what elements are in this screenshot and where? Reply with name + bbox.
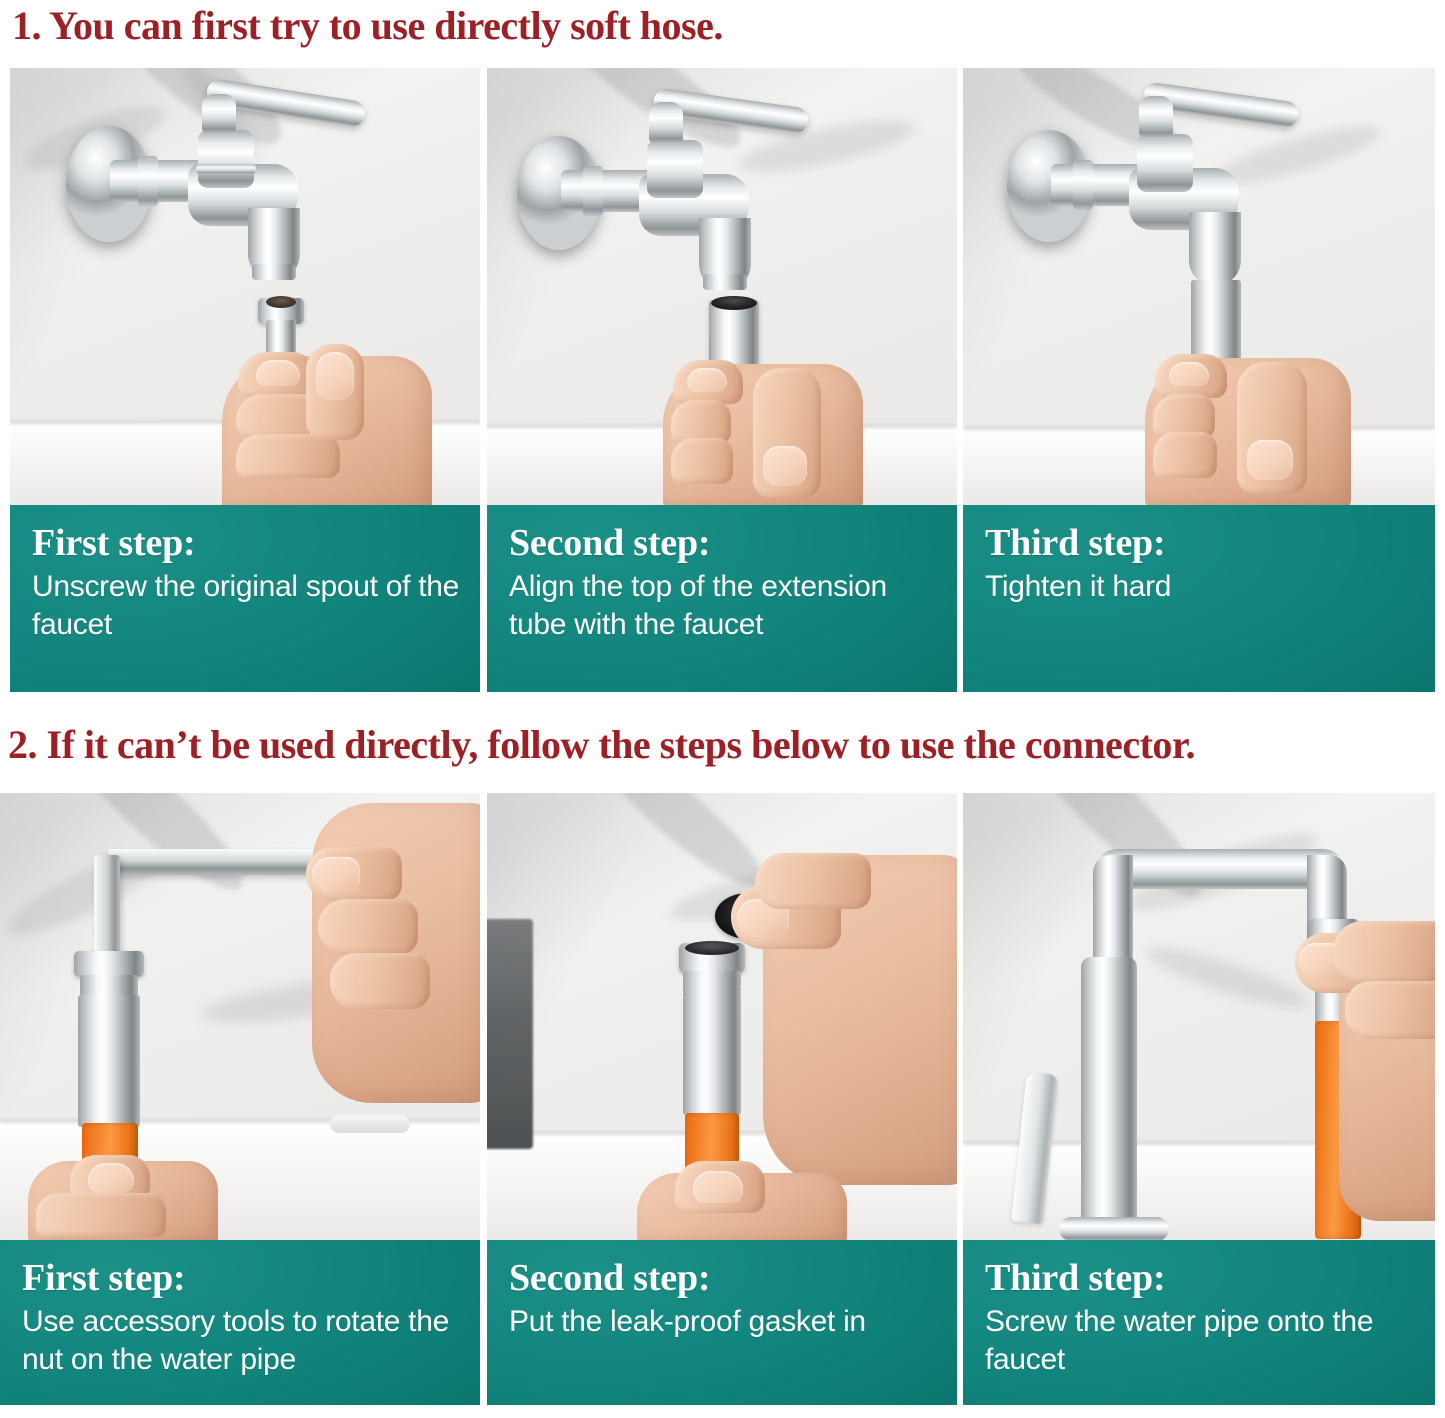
step-title: Second step: [509, 521, 937, 565]
kitchen-faucet-left-bend [1093, 855, 1133, 967]
faucet-cartridge [647, 140, 703, 198]
ring-finger [1153, 432, 1217, 478]
step-card-1-1: First step: Unscrew the original spout o… [10, 68, 480, 692]
step-photo-hex-wrench [0, 793, 480, 1240]
fingernail [312, 857, 360, 891]
middle-finger [36, 1193, 166, 1237]
connector-threads [683, 971, 741, 993]
step-title: Third step: [985, 521, 1415, 565]
step-photo-unscrew-spout [10, 68, 480, 505]
kitchen-faucet-column [1081, 957, 1137, 1239]
connector-threads [80, 975, 138, 997]
thumbnail [763, 446, 807, 486]
step-body: Align the top of the extension tube with… [509, 568, 937, 644]
step-caption-1-3: Third step: Tighten it hard [963, 505, 1435, 692]
step-title: First step: [32, 521, 460, 565]
faucet-spout [1189, 212, 1241, 286]
instruction-infographic: 1. You can first try to use directly sof… [0, 0, 1445, 1418]
kitchen-faucet-base [1059, 1217, 1169, 1240]
step-caption-2-3: Third step: Screw the water pipe onto th… [963, 1240, 1435, 1405]
inlet-pipe-collar [1073, 160, 1093, 210]
spout-threads [703, 274, 747, 290]
step-caption-1-1: First step: Unscrew the original spout o… [10, 505, 480, 692]
step-photo-tighten [963, 68, 1435, 505]
middle-finger [1345, 981, 1435, 1039]
faucet-cartridge [1137, 134, 1193, 192]
step-body: Put the leak-proof gasket in [509, 1303, 937, 1341]
fingernail [256, 360, 300, 386]
step-body: Use accessory tools to rotate the nut on… [22, 1303, 460, 1379]
step-caption-2-1: First step: Use accessory tools to rotat… [0, 1240, 480, 1405]
step-card-1-3: Third step: Tighten it hard [963, 68, 1435, 692]
step-card-2-1: First step: Use accessory tools to rotat… [0, 793, 480, 1405]
ring-finger [671, 438, 733, 484]
inlet-pipe-collar [583, 166, 603, 216]
fingernail [687, 368, 727, 392]
section-2-steps-row: First step: Use accessory tools to rotat… [0, 793, 1445, 1405]
fingernail [693, 1171, 743, 1203]
middle-finger [318, 899, 418, 955]
connector-body [78, 995, 140, 1127]
step-photo-screw-onto-faucet [963, 793, 1435, 1240]
step-card-2-3: Third step: Screw the water pipe onto th… [963, 793, 1435, 1405]
connector-body [683, 991, 741, 1115]
thumbnail [316, 352, 354, 400]
background-appliance [487, 919, 533, 1149]
step-photo-gasket [487, 793, 957, 1240]
lever-stem [202, 94, 236, 134]
faucet-cartridge [198, 130, 254, 188]
step-card-2-2: Second step: Put the leak-proof gasket i… [487, 793, 957, 1405]
aerator-screen [266, 296, 296, 308]
fingernail [88, 1163, 134, 1193]
thumbnail [1247, 440, 1293, 480]
section-1-heading: 1. You can first try to use directly sof… [12, 3, 723, 49]
inlet-pipe-collar [138, 156, 158, 206]
step-title: Second step: [509, 1256, 937, 1300]
spout-threads [252, 264, 296, 280]
ring-finger [236, 434, 340, 478]
step-title: First step: [22, 1256, 460, 1300]
step-body: Tighten it hard [985, 568, 1415, 606]
fingernail [1169, 362, 1209, 386]
step-title: Third step: [985, 1256, 1415, 1300]
step-card-1-2: Second step: Align the top of the extens… [487, 68, 957, 692]
lever-stem [1139, 96, 1173, 138]
connector-nut [74, 951, 144, 977]
step-body: Unscrew the original spout of the faucet [32, 568, 460, 644]
index-finger [755, 853, 871, 909]
ring-finger [330, 953, 430, 1009]
index-finger [1333, 921, 1435, 983]
cartridge-seam [196, 164, 256, 174]
counter-fixture [330, 1115, 410, 1133]
step-caption-2-2: Second step: Put the leak-proof gasket i… [487, 1240, 957, 1405]
lever-stem [649, 102, 683, 144]
step-body: Screw the water pipe onto the faucet [985, 1303, 1415, 1379]
step-caption-1-2: Second step: Align the top of the extens… [487, 505, 957, 692]
section-2-heading: 2. If it can’t be used directly, follow … [8, 722, 1195, 768]
connector-opening [685, 941, 739, 955]
extension-tube-opening [711, 296, 757, 310]
section-1-steps-row: First step: Unscrew the original spout o… [0, 68, 1445, 692]
step-photo-align-tube [487, 68, 957, 505]
hex-wrench-short-arm [94, 855, 120, 961]
